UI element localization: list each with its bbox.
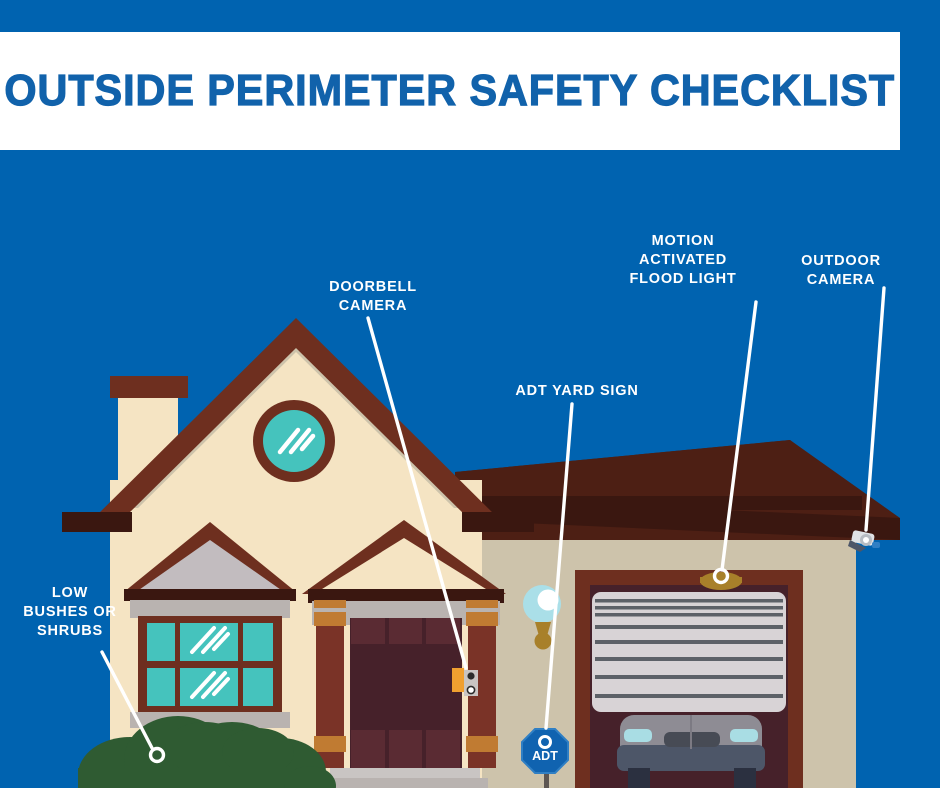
column-capital-band — [466, 612, 498, 626]
column-plinth — [468, 752, 496, 768]
column-base — [314, 736, 346, 752]
porch-step-upper — [330, 768, 480, 778]
garage-wing — [455, 440, 900, 788]
door-panel-bottom — [389, 730, 422, 768]
bay-window-pane — [243, 668, 273, 706]
chimney-cap — [110, 376, 188, 398]
garage-door-slat — [595, 640, 783, 644]
bay-window-header-band — [124, 589, 296, 601]
doorbell-camera-lens — [467, 672, 474, 679]
garage-door-slat — [595, 657, 783, 661]
bay-window-pane — [147, 623, 175, 661]
car-headlight-left — [624, 729, 652, 742]
title-band: OUTSIDE PERIMETER SAFETY CHECKLIST — [0, 32, 900, 150]
bay-window-pane — [243, 623, 273, 661]
porch-column-left — [314, 600, 346, 768]
garage-door-slat — [595, 599, 783, 603]
outdoor-camera-indicator — [872, 542, 880, 548]
door-panel-bottom — [351, 730, 385, 768]
garage-eave — [462, 496, 862, 510]
outdoor-camera-lens — [863, 537, 869, 543]
car-headlight-right — [730, 729, 758, 742]
bush-base — [78, 768, 308, 788]
callout-label-adt-yard-sign: ADT YARD SIGN — [488, 382, 666, 401]
column-shaft — [316, 626, 344, 736]
roof-eave-right — [462, 512, 534, 532]
garage-door-slat — [595, 606, 783, 610]
door-panel-top — [389, 618, 422, 644]
car-wheel-right — [734, 768, 756, 788]
bay-window-lintel — [130, 600, 290, 618]
column-capital — [466, 600, 498, 608]
door-panel-bottom — [426, 730, 460, 768]
doorbell-camera-device[interactable] — [452, 668, 478, 696]
garage-door-panel[interactable] — [592, 592, 786, 712]
doorbell-button[interactable] — [467, 686, 474, 693]
garage-door-slat — [595, 694, 783, 698]
bay-window-pane — [180, 668, 238, 706]
callout-label-motion-activated-flood-light: MOTION ACTIVATED FLOOD LIGHT — [600, 232, 766, 289]
yard-sign-text: ADT — [532, 749, 558, 763]
callout-label-doorbell-camera: DOORBELL CAMERA — [288, 278, 458, 316]
door-panel-top — [351, 618, 385, 644]
infographic-canvas: ADT OUTSIDE PERIMETER SAFETY C — [0, 0, 940, 788]
roof-eave-left — [62, 512, 132, 532]
bay-window-pane — [147, 668, 175, 706]
garage-door-slat — [595, 675, 783, 679]
porch-light-base — [535, 633, 552, 650]
garage-door-slat — [595, 625, 783, 629]
column-base — [466, 736, 498, 752]
attic-window-glass — [263, 410, 325, 472]
porch-step-lower — [322, 778, 488, 788]
page-title: OUTSIDE PERIMETER SAFETY CHECKLIST — [5, 66, 896, 116]
column-capital-band — [314, 612, 346, 626]
column-capital — [314, 600, 346, 608]
garage-door-slat — [595, 613, 783, 617]
doorbell-accent-panel — [452, 668, 464, 692]
callout-label-outdoor-camera: OUTDOOR CAMERA — [772, 252, 910, 290]
car-wheel-left — [628, 768, 650, 788]
callout-label-low-bushes-or-shrubs: LOW BUSHES OR SHRUBS — [10, 584, 130, 641]
car-hood-seam — [690, 715, 692, 749]
bay-window-pane — [180, 623, 238, 661]
